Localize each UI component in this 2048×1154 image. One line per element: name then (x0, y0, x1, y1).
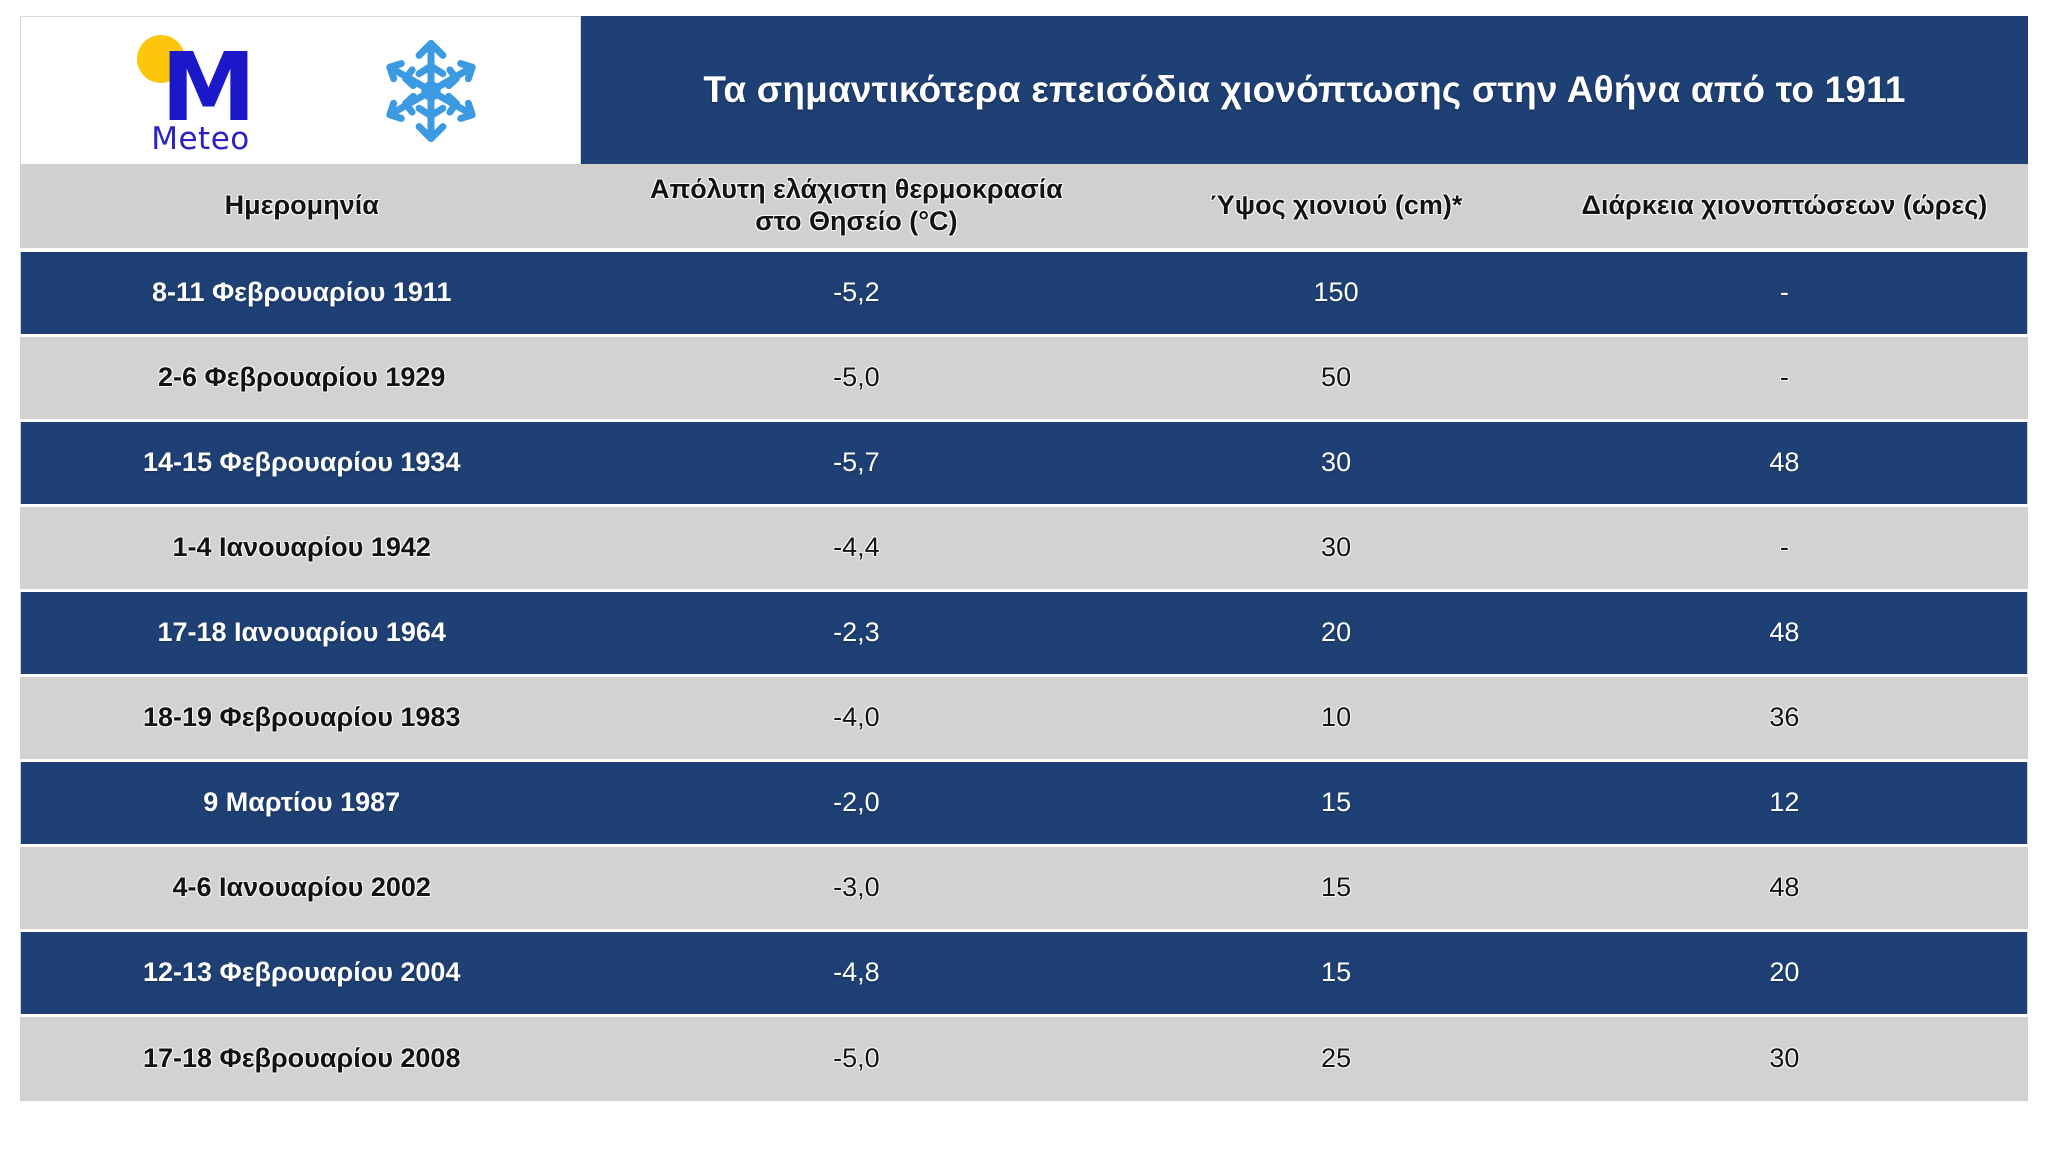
cell-date: 1-4 Ιανουαρίου 1942 (21, 505, 583, 590)
cell-duration: - (1542, 250, 2028, 335)
table-header-row: Ημερομηνία Απόλυτη ελάχιστη θερμοκρασία … (21, 164, 2028, 250)
cell-date: 18-19 Φεβρουαρίου 1983 (21, 675, 583, 760)
column-header-date: Ημερομηνία (21, 164, 583, 250)
infographic-sheet: M Meteo (20, 16, 2028, 1138)
cell-min-temperature: -3,0 (582, 845, 1130, 930)
table-header: Ημερομηνία Απόλυτη ελάχιστη θερμοκρασία … (21, 164, 2028, 250)
table-row: 17-18 Ιανουαρίου 1964 -2,3 20 48 (21, 590, 2028, 675)
meteo-logo-wordmark: Meteo (117, 121, 285, 157)
cell-date: 2-6 Φεβρουαρίου 1929 (21, 335, 583, 420)
cell-duration: 30 (1542, 1015, 2028, 1100)
table-row: 9 Μαρτίου 1987 -2,0 15 12 (21, 760, 2028, 845)
cell-date: 8-11 Φεβρουαρίου 1911 (21, 250, 583, 335)
title-banner: Τα σημαντικότερα επεισόδια χιονόπτωσης σ… (581, 16, 2028, 164)
column-header-snow-depth-line1: Ύψος χιονιού (cm)* (1210, 190, 1463, 220)
cell-date: 14-15 Φεβρουαρίου 1934 (21, 420, 583, 505)
cell-date: 9 Μαρτίου 1987 (21, 760, 583, 845)
meteo-logo: M Meteo (117, 25, 285, 157)
cell-min-temperature: -4,8 (582, 930, 1130, 1015)
column-header-duration: Διάρκεια χιονοπτώσεων (ώρες) (1542, 164, 2028, 250)
table-row: 2-6 Φεβρουαρίου 1929 -5,0 50 - (21, 335, 2028, 420)
column-header-duration-line1: Διάρκεια χιονοπτώσεων (ώρες) (1582, 190, 1988, 220)
cell-snow-depth: 50 (1130, 335, 1541, 420)
cell-snow-depth: 150 (1130, 250, 1541, 335)
table-row: 18-19 Φεβρουαρίου 1983 -4,0 10 36 (21, 675, 2028, 760)
snowfall-episodes-table: Ημερομηνία Απόλυτη ελάχιστη θερμοκρασία … (20, 164, 2028, 1101)
cell-min-temperature: -2,0 (582, 760, 1130, 845)
cell-snow-depth: 15 (1130, 845, 1541, 930)
cell-snow-depth: 20 (1130, 590, 1541, 675)
cell-snow-depth: 30 (1130, 505, 1541, 590)
page-title: Τα σημαντικότερα επεισόδια χιονόπτωσης σ… (703, 69, 1905, 111)
column-header-min-temperature-line1: Απόλυτη ελάχιστη θερμοκρασία (650, 174, 1063, 204)
branding-cell: M Meteo (20, 16, 581, 164)
cell-duration: - (1542, 505, 2028, 590)
cell-snow-depth: 30 (1130, 420, 1541, 505)
table-row: 8-11 Φεβρουαρίου 1911 -5,2 150 - (21, 250, 2028, 335)
snowflake-icon (377, 37, 485, 145)
cell-min-temperature: -5,2 (582, 250, 1130, 335)
cell-min-temperature: -5,7 (582, 420, 1130, 505)
cell-duration: 12 (1542, 760, 2028, 845)
meteo-logo-letter: M (145, 51, 271, 123)
cell-date: 17-18 Ιανουαρίου 1964 (21, 590, 583, 675)
cell-min-temperature: -4,0 (582, 675, 1130, 760)
cell-duration: 36 (1542, 675, 2028, 760)
cell-duration: 48 (1542, 590, 2028, 675)
table-body: 8-11 Φεβρουαρίου 1911 -5,2 150 - 2-6 Φεβ… (21, 250, 2028, 1100)
cell-duration: - (1542, 335, 2028, 420)
column-header-min-temperature: Απόλυτη ελάχιστη θερμοκρασία στο Θησείο … (582, 164, 1130, 250)
table-row: 1-4 Ιανουαρίου 1942 -4,4 30 - (21, 505, 2028, 590)
cell-duration: 48 (1542, 420, 2028, 505)
cell-snow-depth: 15 (1130, 760, 1541, 845)
table-row: 12-13 Φεβρουαρίου 2004 -4,8 15 20 (21, 930, 2028, 1015)
table-row: 4-6 Ιανουαρίου 2002 -3,0 15 48 (21, 845, 2028, 930)
cell-duration: 20 (1542, 930, 2028, 1015)
table-row: 14-15 Φεβρουαρίου 1934 -5,7 30 48 (21, 420, 2028, 505)
top-banner: M Meteo (20, 16, 2028, 164)
table-row: 17-18 Φεβρουαρίου 2008 -5,0 25 30 (21, 1015, 2028, 1100)
cell-snow-depth: 15 (1130, 930, 1541, 1015)
cell-date: 12-13 Φεβρουαρίου 2004 (21, 930, 583, 1015)
cell-date: 4-6 Ιανουαρίου 2002 (21, 845, 583, 930)
cell-snow-depth: 25 (1130, 1015, 1541, 1100)
cell-min-temperature: -2,3 (582, 590, 1130, 675)
cell-min-temperature: -5,0 (582, 335, 1130, 420)
cell-duration: 48 (1542, 845, 2028, 930)
cell-min-temperature: -4,4 (582, 505, 1130, 590)
column-header-date-line1: Ημερομηνία (225, 190, 379, 220)
column-header-snow-depth: Ύψος χιονιού (cm)* (1130, 164, 1541, 250)
column-header-min-temperature-line2: στο Θησείο (°C) (755, 206, 957, 236)
cell-date: 17-18 Φεβρουαρίου 2008 (21, 1015, 583, 1100)
cell-snow-depth: 10 (1130, 675, 1541, 760)
cell-min-temperature: -5,0 (582, 1015, 1130, 1100)
